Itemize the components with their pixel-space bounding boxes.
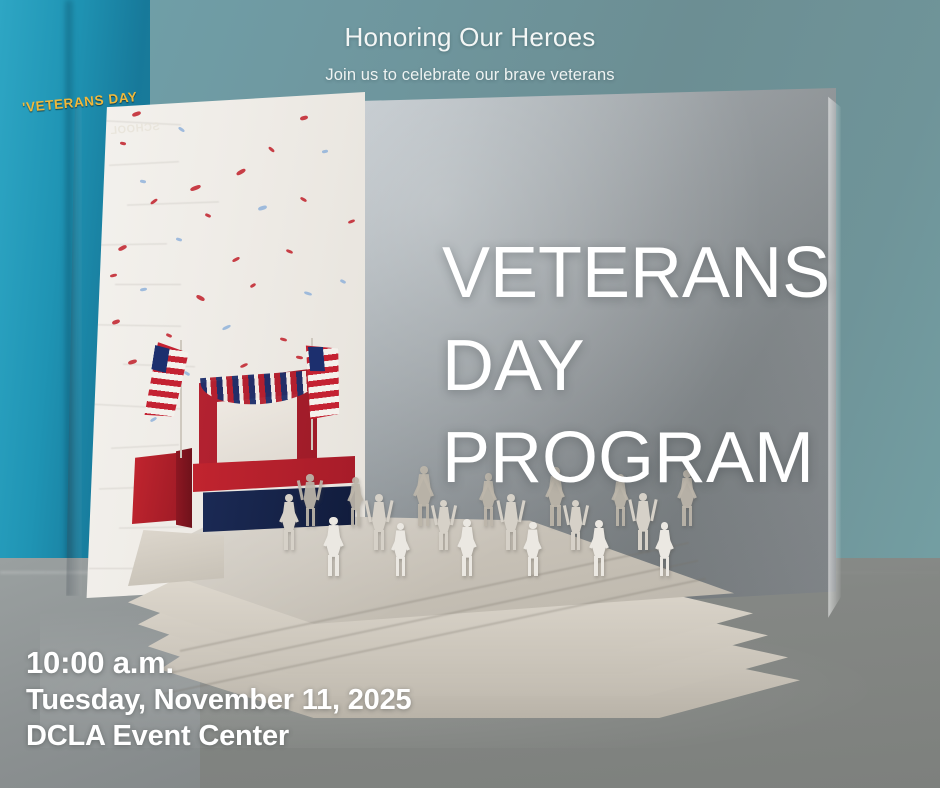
crowd-figure-head [306,474,313,481]
crowd-figure-arm [386,500,394,522]
crowd-figure [522,522,543,576]
crowd-figure-leg [689,506,693,526]
crowd-figure-leg [312,508,315,526]
event-venue: DCLA Event Center [26,718,411,754]
crowd-figure [300,474,320,526]
crowd-figure-leg [571,532,574,550]
crowd-figure-leg [550,505,554,526]
crowd-figure-body [636,501,650,532]
crowd-figure-leg [645,530,649,550]
crowd-figure-leg [616,507,619,526]
veterans-day-poster: 'VETERANS DAY SCHOOL Honoring Our Heroes… [0,0,940,788]
crowd-figure-leg [418,504,422,526]
paper-crease [111,444,179,449]
crowd-figure [434,500,454,550]
headline-line-3: PROGRAM [442,423,912,494]
crowd-figure-leg [490,507,493,526]
event-time: 10:00 a.m. [26,644,411,682]
crowd-figure-leg [284,530,288,550]
crowd-figure-leg [484,507,487,526]
crowd-figure-leg [601,556,605,576]
stage-side-block [128,530,224,586]
poster-kicker: Honoring Our Heroes [0,22,940,53]
crowd-figure-leg [335,555,339,576]
crowd-figure-leg [534,557,537,576]
crowd-figure-head [375,494,383,502]
crowd-figure-arm [364,500,372,522]
crowd-figure-leg [594,556,598,576]
crowd-figure-head [572,500,579,507]
crowd-figure-leg [528,557,531,576]
crowd-figure [322,517,345,576]
crowd-figure-leg [666,557,669,576]
crowd-figure-arm [650,499,658,522]
crowd-figure-leg [445,532,448,550]
crowd-figure-leg [306,508,309,526]
crowd-figure [390,523,411,576]
crowd-figure [346,477,365,526]
crowd-figure-leg [622,507,625,526]
crowd-figure-leg [506,530,510,550]
crowd-figure-leg [513,530,517,550]
crowd-figure-leg [381,530,385,550]
paper-crease [127,202,219,206]
crowd-figure-head [440,500,447,507]
paper-crease [109,161,179,166]
crowd-figure-leg [357,508,360,526]
headline-line-1: VETERANS [442,238,912,309]
crowd-figure-leg [577,532,580,550]
paper-crease [115,284,181,285]
crowd-figure [566,500,586,550]
crowd-figure-leg [469,556,473,576]
crowd-figure [412,466,436,526]
paper-crease [95,324,181,327]
crowd-figure [278,494,300,550]
poster-subkicker: Join us to celebrate our brave veterans [0,66,940,85]
crowd-figure-arm [316,480,323,500]
crowd-figure [456,519,478,576]
crowd-figure-leg [462,556,466,576]
crowd-figure-arm [518,500,526,522]
crowd-figure-leg [374,530,378,550]
flag-canton-right [308,345,325,372]
crowd-figure [368,494,390,550]
crowd-figure-leg [396,557,399,576]
crowd-figure-leg [557,505,561,526]
crowd-figure-leg [291,530,295,550]
event-date: Tuesday, November 11, 2025 [26,682,411,718]
crowd-figure [632,493,654,550]
crowd-figure-leg [439,532,442,550]
poster-headline: VETERANS DAY PROGRAM [442,238,912,494]
crowd-figure [588,520,610,576]
crowd-figure-leg [638,530,642,550]
crowd-figure-leg [426,504,430,526]
headline-line-2: DAY [442,331,912,402]
crowd-figure [654,522,675,576]
crowd-figure-body [570,507,583,534]
crowd-figure-leg [328,555,332,576]
crowd-figure-body [438,507,451,534]
event-details: 10:00 a.m. Tuesday, November 11, 2025 DC… [26,644,411,754]
crowd-figure-body [372,502,386,532]
crowd-figure-leg [682,506,686,526]
crowd-figure-body [504,502,518,532]
crowd-figure-leg [402,557,405,576]
crowd-figure-body [304,482,317,510]
crowd-figure [500,494,522,550]
crowd-figure-leg [351,508,354,526]
crowd-figure-leg [660,557,663,576]
